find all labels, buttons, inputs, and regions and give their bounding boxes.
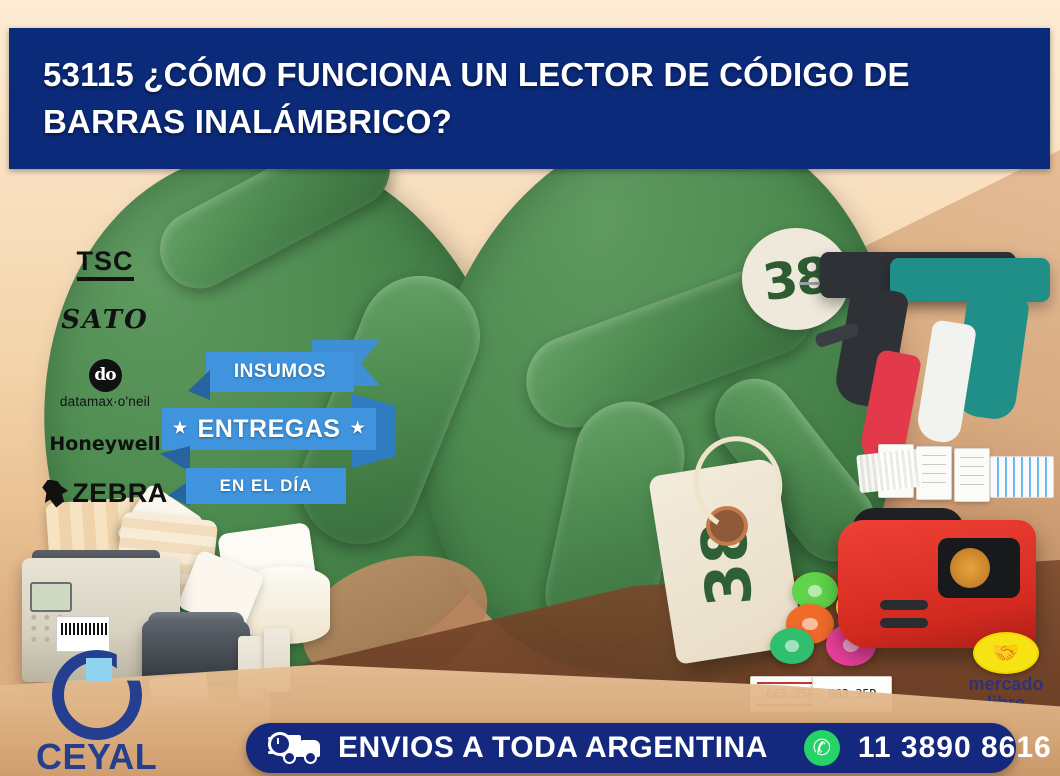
ribbon-entregas: ★ ENTREGAS ★ [162, 408, 376, 450]
page-title: 53115 ¿Cómo funciona un lector de código… [9, 52, 1050, 146]
printer-lcd-screen [30, 582, 72, 612]
price-gun-button [880, 600, 928, 610]
brand-logo-list: TSC SATO do datamax·o'neil Honeywell ZEB… [30, 248, 180, 508]
ceyal-wordmark: CEYAL [36, 736, 186, 776]
mercadolibre-line1: mercado [960, 676, 1052, 693]
price-gun-label-drum [938, 538, 1020, 598]
shipping-text: ENVIOS A TODA ARGENTINA [338, 731, 768, 765]
title-banner: 53115 ¿Cómo funciona un lector de código… [9, 28, 1050, 169]
brand-logo-zebra-label: ZEBRA [72, 480, 168, 507]
brand-logo-honeywell: Honeywell [49, 435, 160, 454]
ribbon-insumos-label: INSUMOS [234, 361, 326, 383]
brand-logo-zebra: ZEBRA [42, 480, 168, 508]
brand-logo-tsc: TSC [77, 248, 134, 281]
ribbon-fold [188, 370, 210, 400]
ribbon-insumos: INSUMOS [206, 352, 354, 392]
brand-logo-datamax-label: datamax·o'neil [60, 395, 150, 409]
handshake-glyph: 🤝 [992, 642, 1019, 664]
tag-block [916, 446, 952, 500]
datamax-mark-icon: do [89, 359, 122, 392]
tag-fasteners [856, 449, 922, 493]
promo-ribbon-group: INSUMOS ★ ENTREGAS ★ EN EL DÍA [162, 348, 402, 508]
star-icon: ★ [350, 421, 365, 437]
brand-logo-datamax-oneil: do datamax·o'neil [60, 359, 150, 409]
spare-needles-pack [990, 456, 1054, 498]
tag-block [954, 448, 990, 502]
zebra-head-icon [42, 480, 68, 508]
ceyal-mark-icon [52, 650, 142, 740]
banner-canvas: 38 38 663.35P 663.35P 🤝 mercado lib [0, 0, 1060, 776]
mercadolibre-logo: 🤝 mercado libre [960, 632, 1052, 711]
ribbon-entregas-label: ENTREGAS [198, 415, 341, 444]
phone-number[interactable]: 11 3890 8616 [858, 731, 1052, 765]
tape-roll-teal [770, 628, 814, 664]
delivery-truck-icon [268, 732, 320, 764]
whatsapp-icon[interactable]: ✆ [804, 730, 840, 766]
price-gun-button [880, 618, 928, 628]
ribbon-en-el-dia-label: EN EL DÍA [220, 476, 313, 496]
shipping-cta-bar[interactable]: ENVIOS A TODA ARGENTINA ✆ 11 3890 8616 [246, 723, 1016, 773]
brand-logo-sato: SATO [61, 307, 149, 333]
ceyal-logo: CEYAL [36, 650, 186, 776]
ribbon-en-el-dia: EN EL DÍA [186, 468, 346, 504]
handshake-icon: 🤝 [973, 632, 1039, 674]
printed-barcode-label [56, 616, 110, 652]
star-icon: ★ [173, 421, 188, 437]
